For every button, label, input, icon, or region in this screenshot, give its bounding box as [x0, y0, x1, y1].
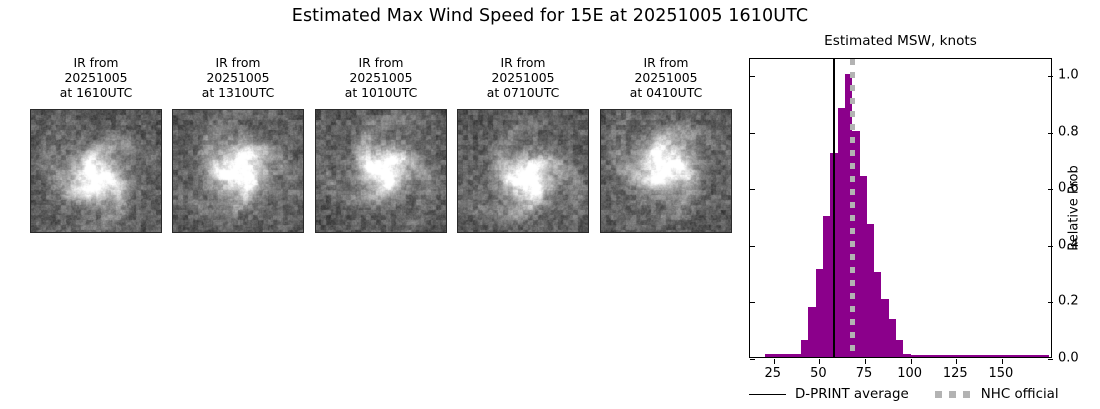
histogram-bar — [918, 355, 925, 357]
legend-dprint-average-label: D-PRINT average — [795, 387, 909, 402]
histogram-bar — [954, 355, 961, 357]
x-axis-tick-label: 100 — [897, 366, 922, 381]
histogram-bar — [852, 131, 859, 357]
histogram-bar — [881, 299, 888, 357]
y-axis-tick-left — [750, 302, 755, 303]
histogram-bar — [984, 355, 991, 357]
ir-panel-1010-image — [315, 109, 447, 233]
histogram-bar — [830, 153, 837, 357]
legend-nhc-official: NHC official — [935, 387, 1059, 402]
chart-legend: D-PRINT average NHC official — [749, 381, 1079, 407]
plot-area — [749, 58, 1052, 358]
ir-panel-1010-caption: IR from 20251005 at 1010UTC — [313, 55, 449, 101]
satellite-image-strip: IR from 20251005 at 1610UTCIR from 20251… — [0, 55, 735, 285]
y-axis-tick — [1048, 302, 1053, 303]
histogram-bar — [772, 354, 779, 357]
y-axis-tick — [1048, 76, 1053, 77]
x-axis-tick-label: 75 — [856, 366, 873, 381]
ir-panel-0410-image — [600, 109, 732, 233]
ir-panel-1010: IR from 20251005 at 1010UTC — [313, 55, 449, 233]
x-axis-tick — [865, 359, 866, 364]
y-axis-tick-left — [750, 189, 755, 190]
histogram-bar — [903, 354, 910, 357]
histogram-bar — [991, 355, 998, 357]
histogram-bar — [838, 108, 845, 357]
y-axis-tick-left — [750, 76, 755, 77]
x-axis-tick — [911, 359, 912, 364]
histogram-bar — [787, 354, 794, 357]
histogram-bar — [816, 269, 823, 357]
histogram-bar — [976, 355, 983, 357]
x-axis-tick — [819, 359, 820, 364]
chart-title: Estimated MSW, knots — [749, 33, 1052, 49]
y-axis-tick-label: 1.0 — [1058, 67, 1079, 82]
histogram-bar — [889, 319, 896, 357]
histogram-bar — [845, 74, 852, 357]
histogram-bar — [1020, 355, 1027, 357]
histogram-bar — [860, 176, 867, 357]
nhc-official-line — [850, 59, 855, 357]
ir-panel-1310-caption: IR from 20251005 at 1310UTC — [170, 55, 306, 101]
legend-nhc-official-label: NHC official — [981, 387, 1059, 402]
y-axis-tick — [1048, 133, 1053, 134]
histogram-bar — [962, 355, 969, 357]
ir-panel-1310-image — [172, 109, 304, 233]
x-axis-tick-label: 50 — [810, 366, 827, 381]
histogram-bar — [969, 355, 976, 357]
y-axis-tick — [1048, 246, 1053, 247]
x-axis-tick — [1002, 359, 1003, 364]
histogram-bar — [896, 340, 903, 357]
histogram-bar — [940, 355, 947, 357]
histogram-bar — [779, 354, 786, 357]
y-axis-tick-label: 0.0 — [1058, 351, 1079, 366]
histogram-bar — [874, 272, 881, 357]
legend-dprint-average: D-PRINT average — [749, 387, 909, 402]
y-axis-tick-left — [750, 133, 755, 134]
histogram-bar — [1042, 355, 1049, 357]
histogram-bar — [808, 307, 815, 357]
y-axis-tick-left — [750, 359, 755, 360]
histogram-bar — [1006, 355, 1013, 357]
histogram-bar — [947, 355, 954, 357]
histogram-bar — [1027, 355, 1034, 357]
histogram-bar — [911, 355, 918, 357]
ir-panel-1610-caption: IR from 20251005 at 1610UTC — [28, 55, 164, 101]
x-axis-tick — [774, 359, 775, 364]
x-axis-tick-label: 150 — [988, 366, 1013, 381]
y-axis-tick — [1048, 359, 1053, 360]
histogram-bar — [801, 340, 808, 357]
page-title: Estimated Max Wind Speed for 15E at 2025… — [0, 6, 1100, 26]
histogram-bar — [933, 355, 940, 357]
histogram-bar — [925, 355, 932, 357]
y-axis-tick-label: 0.4 — [1058, 237, 1079, 252]
ir-panel-0710-caption: IR from 20251005 at 0710UTC — [455, 55, 591, 101]
histogram-bar — [823, 216, 830, 358]
y-axis-tick-left — [750, 246, 755, 247]
dotted-line-icon — [935, 391, 972, 398]
ir-panel-1610-image — [30, 109, 162, 233]
solid-line-icon — [749, 394, 786, 395]
dprint-average-line — [833, 59, 835, 357]
y-axis-tick-label: 0.8 — [1058, 124, 1079, 139]
histogram-bar — [998, 355, 1005, 357]
ir-panel-0710-image — [457, 109, 589, 233]
y-axis-tick-label: 0.2 — [1058, 294, 1079, 309]
ir-panel-1610: IR from 20251005 at 1610UTC — [28, 55, 164, 233]
y-axis-tick-label: 0.6 — [1058, 181, 1079, 196]
histogram-bar — [1013, 355, 1020, 357]
y-axis-label: Relative Prob — [1067, 165, 1082, 250]
histogram-bar — [867, 224, 874, 357]
x-axis-tick-label: 125 — [943, 366, 968, 381]
x-axis-tick-label: 25 — [764, 366, 781, 381]
histogram-bar — [794, 354, 801, 357]
histogram-bar — [765, 354, 772, 357]
histogram-bar — [1035, 355, 1042, 357]
ir-panel-0410: IR from 20251005 at 0410UTC — [598, 55, 734, 233]
ir-panel-1310: IR from 20251005 at 1310UTC — [170, 55, 306, 233]
x-axis-tick — [956, 359, 957, 364]
y-axis-tick — [1048, 189, 1053, 190]
ir-panel-0710: IR from 20251005 at 0710UTC — [455, 55, 591, 233]
ir-panel-0410-caption: IR from 20251005 at 0410UTC — [598, 55, 734, 101]
